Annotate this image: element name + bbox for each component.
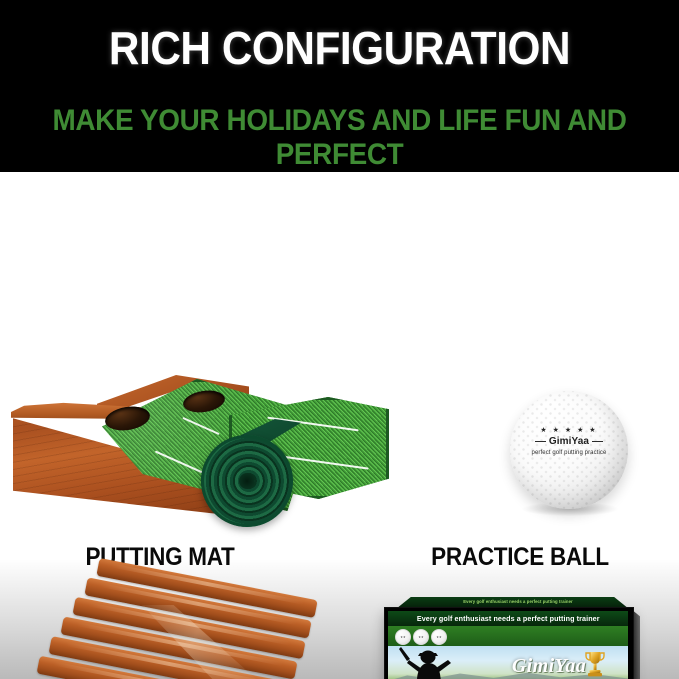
box-top-flap-text: Every golf enthusiast needs a perfect pu… bbox=[416, 598, 620, 605]
rule-left-icon bbox=[535, 441, 546, 442]
mini-golf-ball-icon: ★★ bbox=[431, 629, 447, 645]
product-marketing-image: RICH CONFIGURATION MAKE YOUR HOLIDAYS AN… bbox=[0, 0, 679, 679]
ball-brand-row: GimiYaa bbox=[526, 436, 612, 447]
page-subtitle: MAKE YOUR HOLIDAYS AND LIFE FUN AND PERF… bbox=[24, 104, 655, 172]
wooden-base-photo bbox=[8, 577, 358, 679]
ball-tagline: perfect golf putting practice bbox=[526, 450, 612, 457]
box-green-band: ★★ ★★ ★★ bbox=[388, 626, 628, 647]
practice-ball-photo: ★ ★ ★ ★ ★ GimiYaa perfect golf putting p… bbox=[500, 387, 650, 532]
box-banner-text: Every golf enthusiast needs a perfect pu… bbox=[417, 614, 600, 623]
putting-mat-photo bbox=[5, 357, 390, 532]
trophy-icon bbox=[584, 650, 606, 679]
practice-ball-label: PRACTICE BALL bbox=[394, 543, 646, 572]
box-cover-photo: GimiYaa PERFECT PUTTING TRAINER bbox=[388, 646, 628, 679]
star-rating: ★ ★ ★ ★ ★ bbox=[526, 427, 612, 435]
putting-mat-label: PUTTING MAT bbox=[34, 543, 286, 572]
golf-ball-print: ★ ★ ★ ★ ★ GimiYaa perfect golf putting p… bbox=[526, 427, 612, 457]
product-grid: PUTTING MAT ★ ★ ★ ★ ★ GimiYaa perfect go… bbox=[0, 172, 679, 679]
mini-golf-ball-icon: ★★ bbox=[395, 629, 411, 645]
box-banner: Every golf enthusiast needs a perfect pu… bbox=[388, 611, 628, 626]
box-front-panel: Every golf enthusiast needs a perfect pu… bbox=[384, 607, 634, 679]
rule-right-icon bbox=[592, 441, 603, 442]
retail-box-photo: Every golf enthusiast needs a perfect pu… bbox=[378, 597, 648, 679]
ball-brand-name: GimiYaa bbox=[549, 436, 589, 447]
page-title: RICH CONFIGURATION bbox=[27, 22, 652, 74]
mini-ball-mark: ★★ bbox=[436, 635, 441, 639]
mini-ball-mark: ★★ bbox=[418, 635, 423, 639]
mat-roll-core bbox=[239, 473, 255, 489]
mini-golf-ball-icon: ★★ bbox=[413, 629, 429, 645]
header-banner: RICH CONFIGURATION MAKE YOUR HOLIDAYS AN… bbox=[0, 0, 679, 172]
mini-ball-mark: ★★ bbox=[400, 635, 405, 639]
golfer-silhouette-icon bbox=[398, 646, 464, 679]
